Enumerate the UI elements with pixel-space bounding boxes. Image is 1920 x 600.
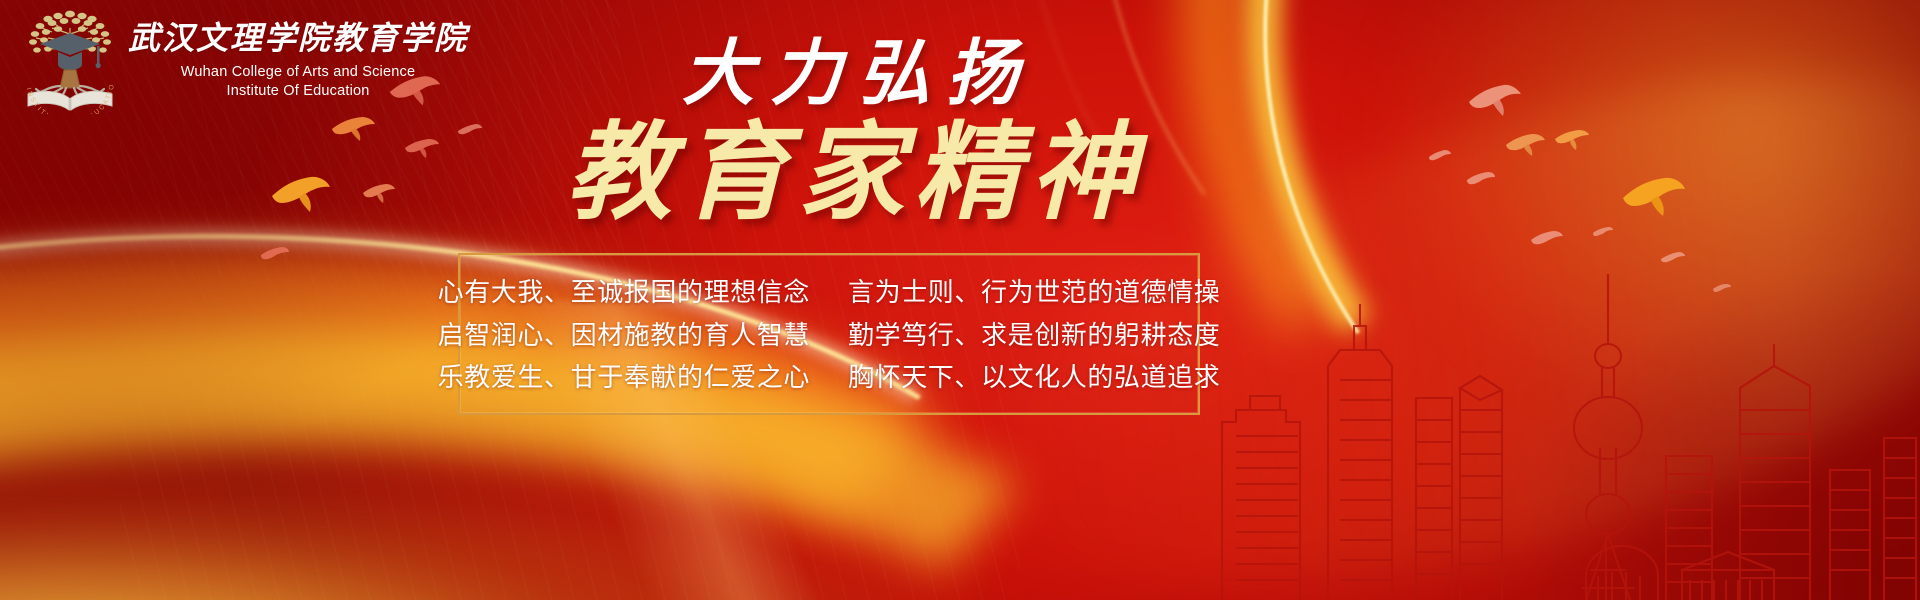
- flying-dove: [1620, 172, 1686, 218]
- institution-name-en: Wuhan College of Arts and Science Instit…: [128, 63, 468, 102]
- institution-name-en-line2: Institute Of Education: [128, 82, 468, 101]
- golden-ribbon-top-right-rim: [1160, 0, 1920, 600]
- tree-graduation-cap-book-emblem: INSTITUTE OF EDUCATION: [18, 6, 122, 114]
- ribbon-glow-bottom-left: [0, 430, 1100, 600]
- headline-line2: 教育家精神: [470, 118, 1230, 230]
- creed-grid: 心有大我、至诚报国的理想信念 言为士则、行为世范的道德情操 启智润心、因材施教的…: [422, 273, 1237, 395]
- flying-dove: [1712, 282, 1732, 296]
- flying-dove: [1504, 130, 1546, 158]
- creed-line-right-2: 勤学笃行、求是创新的躬耕态度: [848, 320, 1220, 353]
- flying-dove: [1530, 228, 1564, 252]
- creed-box: 心有大我、至诚报国的理想信念 言为士则、行为世范的道德情操 启智润心、因材施教的…: [458, 253, 1200, 415]
- shanghai-skyline-outline: [1220, 270, 1920, 600]
- creed-line-left-3: 乐教爱生、甘于奉献的仁爱之心: [438, 362, 810, 395]
- flying-dove: [362, 181, 396, 205]
- flying-dove: [1554, 126, 1590, 152]
- flying-dove: [1428, 148, 1452, 166]
- flying-dove: [260, 245, 290, 265]
- flying-dove: [1466, 80, 1522, 118]
- ribbon-yellow-core-bottom-left: [0, 520, 640, 600]
- ribbon-glow-top-right: [1360, 0, 1920, 440]
- creed-line-right-3: 胸怀天下、以文化人的弘道追求: [848, 362, 1220, 395]
- flying-dove: [1660, 250, 1686, 268]
- creed-line-right-1: 言为士则、行为世范的道德情操: [848, 277, 1220, 310]
- institution-logo[interactable]: INSTITUTE OF EDUCATION 武汉文理学院教育学院 Wuhan …: [18, 6, 468, 114]
- flying-dove: [1466, 170, 1496, 190]
- flying-dove: [269, 172, 331, 214]
- flying-dove: [404, 136, 440, 160]
- celebration-banner: INSTITUTE OF EDUCATION 武汉文理学院教育学院 Wuhan …: [0, 0, 1920, 600]
- golden-ribbon-top-right-body-inner: [1142, 0, 1920, 600]
- headline-line1: 大力弘扬: [470, 38, 1230, 110]
- creed-line-left-1: 心有大我、至诚报国的理想信念: [438, 277, 810, 310]
- institution-name-en-line1: Wuhan College of Arts and Science: [128, 63, 468, 82]
- flying-dove: [1592, 225, 1614, 241]
- banner-headline: 大力弘扬 教育家精神: [470, 38, 1230, 230]
- institution-name-cn: 武汉文理学院教育学院: [128, 22, 468, 54]
- creed-line-left-2: 启智润心、因材施教的育人智慧: [438, 320, 810, 353]
- flying-dove: [330, 113, 376, 143]
